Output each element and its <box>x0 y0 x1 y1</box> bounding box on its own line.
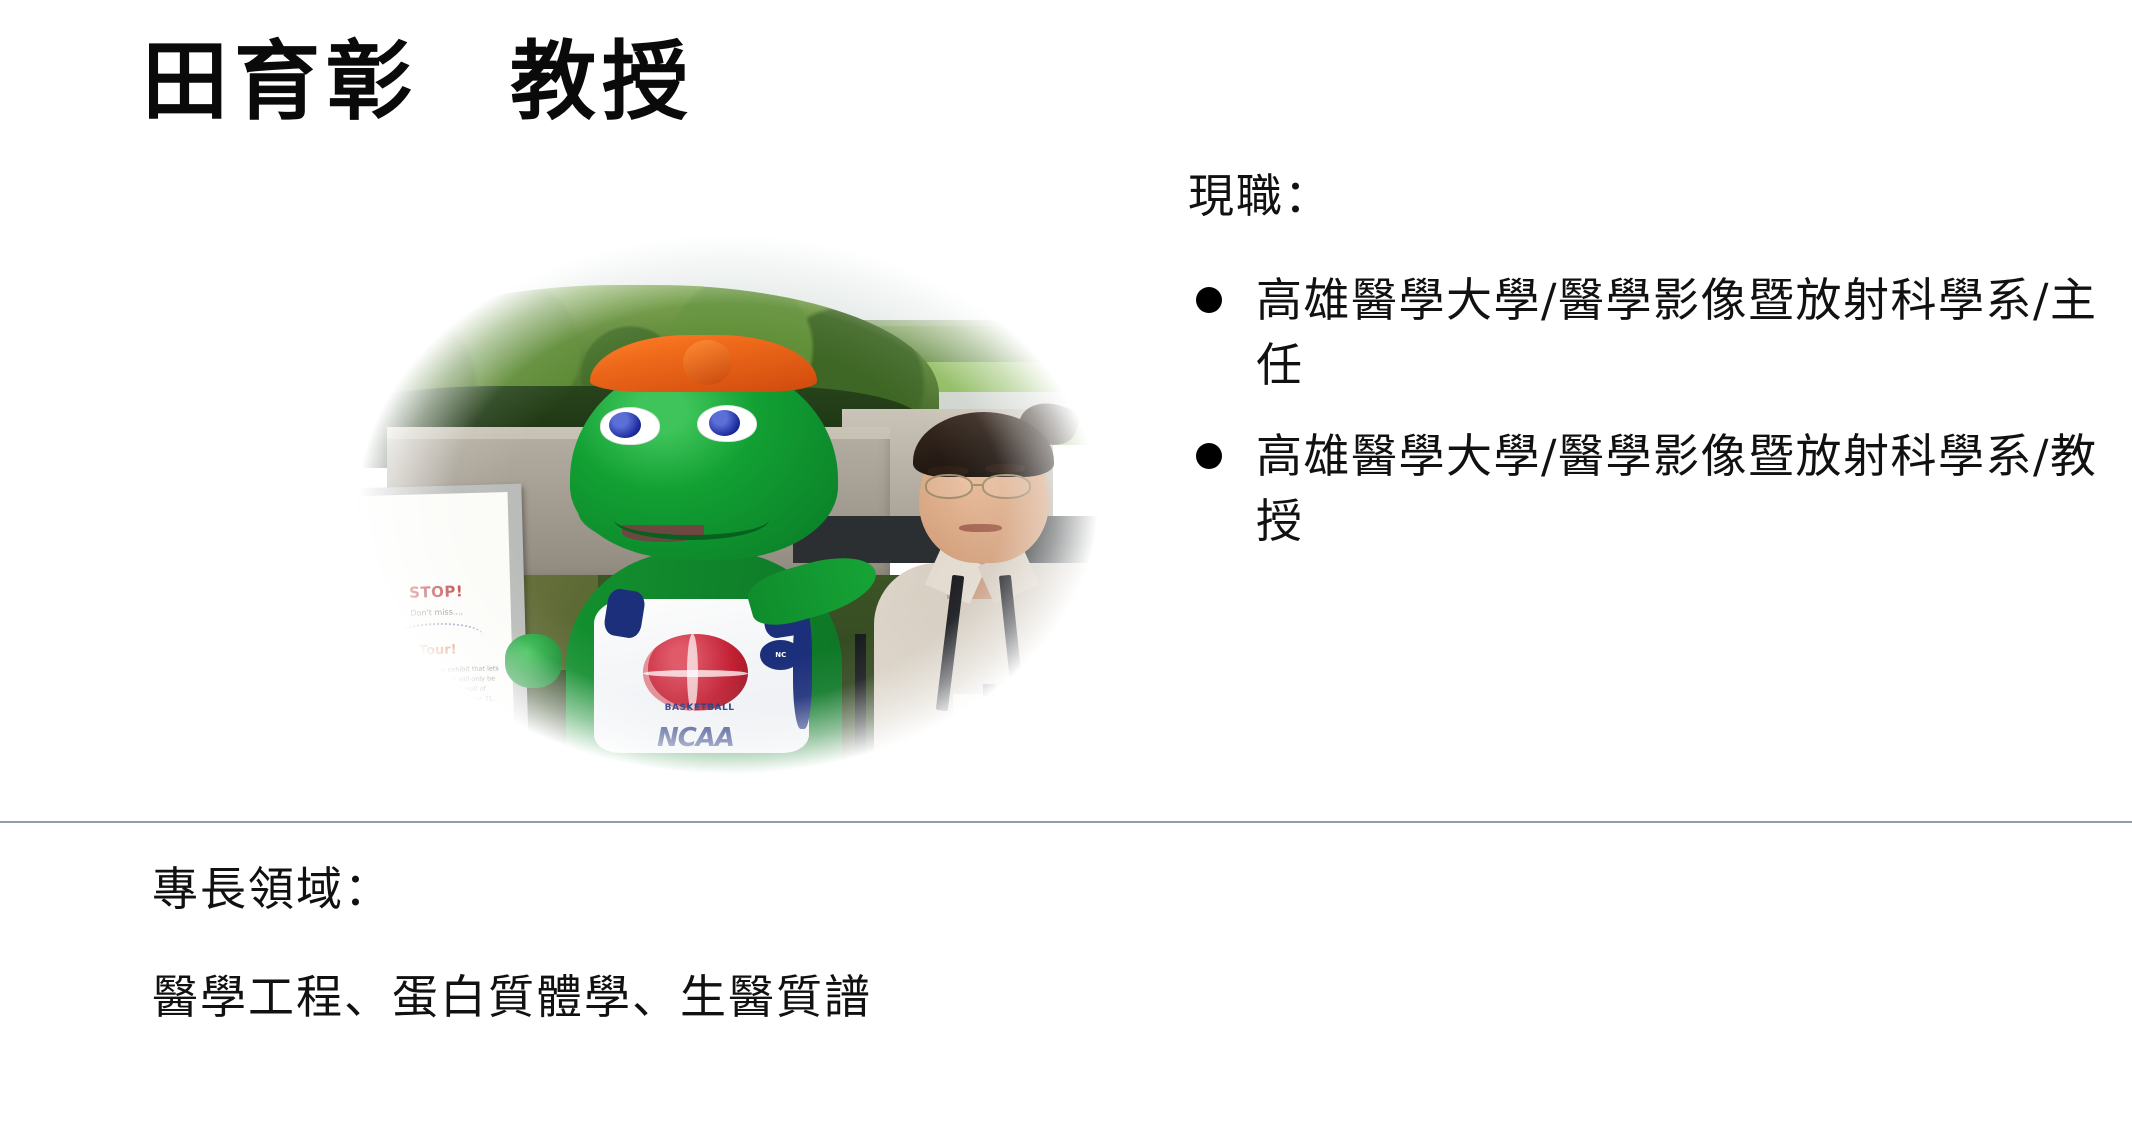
list-item-label: 高雄醫學大學/醫學影像暨放射科學系/教授 <box>1256 429 2098 548</box>
photo-jersey-patch: NC <box>760 640 801 670</box>
list-item: 高雄醫學大學/醫學影像暨放射科學系/教授 <box>1188 424 2108 555</box>
list-item-label: 高雄醫學大學/醫學影像暨放射科學系/主任 <box>1256 273 2098 392</box>
photo-badge-graphic <box>985 699 1022 735</box>
photo-shirt-logo: DuPont <box>1037 658 1102 688</box>
specialty-value: 醫學工程、蛋白質體學、生醫質譜 <box>152 968 1852 1028</box>
sign-logo: Tour! <box>419 643 457 659</box>
sign-arc-decoration <box>392 622 484 639</box>
current-position-label: 現職： <box>1188 168 2108 226</box>
list-item: 高雄醫學大學/醫學影像暨放射科學系/主任 <box>1188 268 2108 399</box>
specialty-label: 專長領域： <box>152 860 1852 920</box>
photo-man-eyebrow <box>985 464 1026 473</box>
specialty-block: 專長領域： 醫學工程、蛋白質體學、生醫質譜 <box>152 860 1852 1028</box>
photo-jersey-trim <box>793 605 812 729</box>
photo-mascot-hand <box>505 634 562 687</box>
sign-body-text: This is an interactive exhibit that lets… <box>378 663 500 707</box>
photo-man-mouth <box>959 524 1003 533</box>
bullet-dot-icon <box>1196 287 1222 313</box>
bullet-dot-icon <box>1196 443 1222 469</box>
photo-mascot-hat-knot <box>683 340 732 385</box>
photo-mascot-pupil <box>709 410 741 436</box>
photo-bench-rail <box>855 634 866 800</box>
photo-jersey-brand: NCAA <box>627 717 765 758</box>
profile-photo-image: STOP! Don't miss.... Tour! This is an in… <box>322 208 1134 800</box>
sign-subtitle: Don't miss.... <box>411 607 464 617</box>
photo-man-glasses-lens <box>925 474 974 499</box>
sign-heading: STOP! <box>409 582 464 602</box>
shirt-logo-text: DuPont <box>1049 668 1081 678</box>
page-title: 田育彰 教授 <box>142 36 694 129</box>
photo-man-glasses-lens <box>982 474 1031 499</box>
photo-badge-clip <box>983 684 996 697</box>
section-divider <box>0 821 2132 823</box>
photo-mascot-mouth <box>614 498 768 539</box>
current-position-block: 現職： 高雄醫學大學/醫學影像暨放射科學系/主任 高雄醫學大學/醫學影像暨放射科… <box>1188 168 2108 581</box>
shirt-logo-ring-icon <box>1037 668 1046 677</box>
photo-sign-text: STOP! Don't miss.... Tour! This is an in… <box>360 492 515 745</box>
photo-man-glasses-bridge <box>973 484 984 486</box>
current-position-list: 高雄醫學大學/醫學影像暨放射科學系/主任 高雄醫學大學/醫學影像暨放射科學系/教… <box>1188 268 2108 555</box>
slide-root: 田育彰 教授 STOP! Don't miss.... Tour <box>0 0 2132 1146</box>
profile-photo: STOP! Don't miss.... Tour! This is an in… <box>322 208 1134 800</box>
